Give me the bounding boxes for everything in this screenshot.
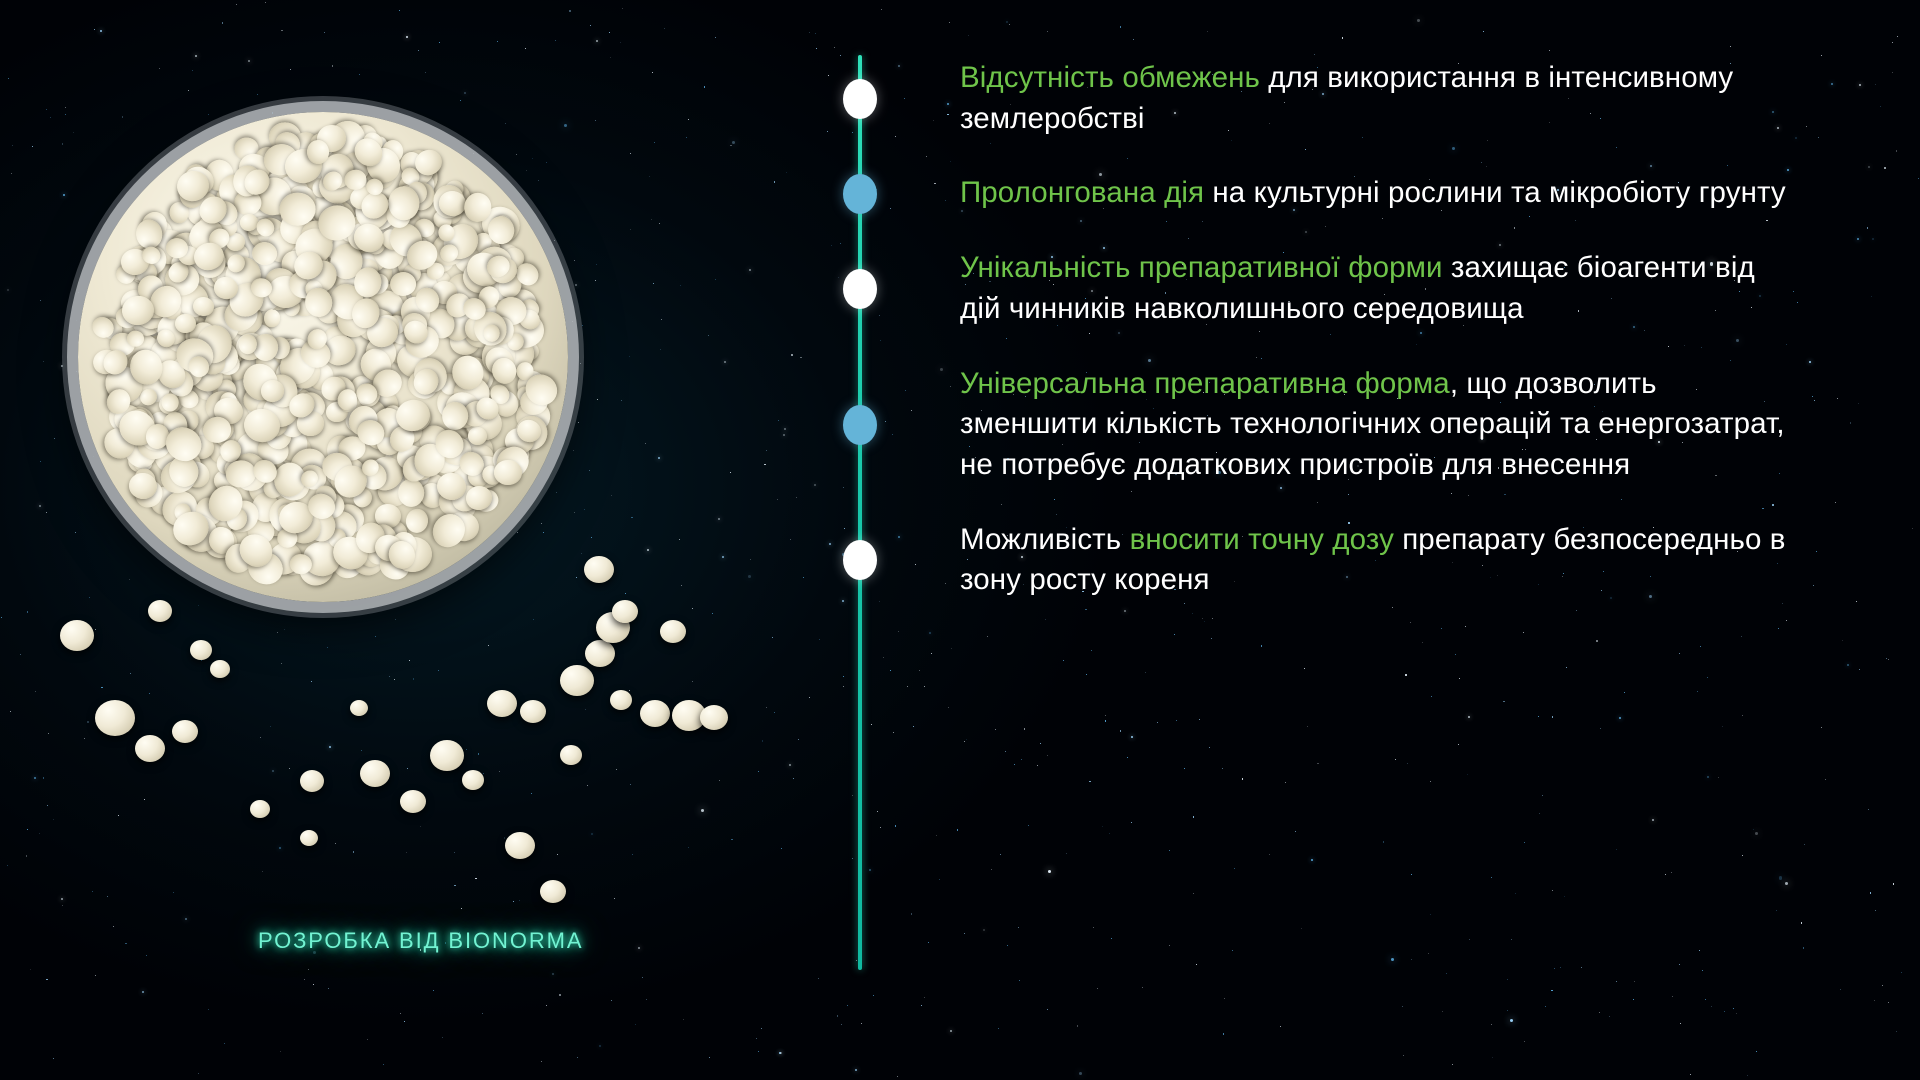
point-text: Відсутність обмежень для використання в … [960,58,1790,139]
point-text: Пролонгована дія на культурні рослини та… [960,173,1790,214]
point-segment: вносити точну дозу [1130,523,1394,556]
point-text: Можливість вносити точну дозу препарату … [960,520,1790,601]
benefit-points-list: Відсутність обмежень для використання в … [960,58,1790,635]
point-4: Універсальна препаративна форма, що дозв… [960,364,1790,486]
point-segment: Універсальна препаративна форма [960,367,1450,400]
timeline-axis [855,55,865,970]
timeline-node-1 [843,79,877,119]
point-3: Унікальність препаративної форми захищає… [960,248,1790,329]
point-2: Пролонгована дія на культурні рослини та… [960,173,1790,214]
timeline-node-4 [843,405,877,445]
slide-root: РОЗРОБКА ВІД BIONORMA Відсутність обмеже… [0,0,1920,1080]
point-segment: Пролонгована дія [960,176,1204,209]
timeline-node-3 [843,269,877,309]
timeline-node-5 [843,540,877,580]
point-text: Унікальність препаративної форми захищає… [960,248,1790,329]
point-segment: на культурні рослини та мікробіоту грунт… [1204,176,1786,209]
timeline-node-2 [843,174,877,214]
point-text: Універсальна препаративна форма, що дозв… [960,364,1790,486]
point-segment: Унікальність препаративної форми [960,251,1443,284]
point-5: Можливість вносити точну дозу препарату … [960,520,1790,601]
product-image-area: РОЗРОБКА ВІД BIONORMA [0,0,760,1080]
point-segment: Можливість [960,523,1130,556]
point-1: Відсутність обмежень для використання в … [960,58,1790,139]
point-segment: Відсутність обмежень [960,61,1260,94]
product-caption: РОЗРОБКА ВІД BIONORMA [258,928,583,954]
granule-bowl-image [78,112,568,602]
